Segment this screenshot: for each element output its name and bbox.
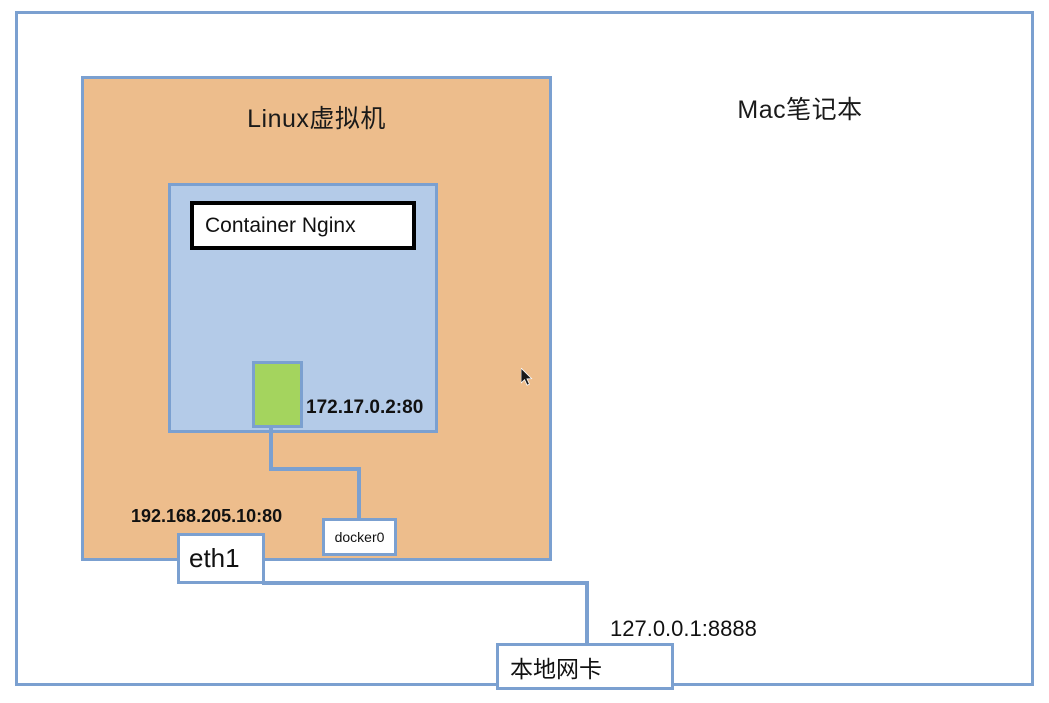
docker0-label: docker0 xyxy=(335,529,385,545)
container-ip-label: 172.17.0.2:80 xyxy=(306,397,423,419)
connector-eth1-to-local-nic-segment-2 xyxy=(585,581,589,646)
eth1-label: eth1 xyxy=(189,543,240,574)
eth1-nic-node: eth1 xyxy=(177,533,265,584)
linux-vm-label: Linux虚拟机 xyxy=(84,99,549,135)
container-nginx-node: Container Nginx xyxy=(190,201,416,250)
mouse-pointer-icon xyxy=(521,368,535,388)
connector-veth-to-docker0-segment-2 xyxy=(269,467,361,471)
diagram-canvas: Mac笔记本 Linux虚拟机 Container Nginx 172.17.0… xyxy=(0,0,1049,703)
connector-eth1-to-local-nic-segment-1 xyxy=(262,581,589,585)
local-nic-node: 本地网卡 xyxy=(496,643,674,690)
vm-nic-ip-label: 192.168.205.10:80 xyxy=(131,506,282,527)
container-veth-endpoint xyxy=(252,361,303,428)
local-nic-ip-label: 127.0.0.1:8888 xyxy=(610,616,757,642)
container-nginx-label: Container Nginx xyxy=(205,214,356,238)
mac-laptop-label: Mac笔记本 xyxy=(660,90,940,126)
local-nic-label: 本地网卡 xyxy=(510,650,602,684)
docker0-bridge-node: docker0 xyxy=(322,518,397,556)
connector-veth-to-docker0-segment-3 xyxy=(357,467,361,521)
connector-veth-to-docker0-segment-1 xyxy=(269,426,273,471)
